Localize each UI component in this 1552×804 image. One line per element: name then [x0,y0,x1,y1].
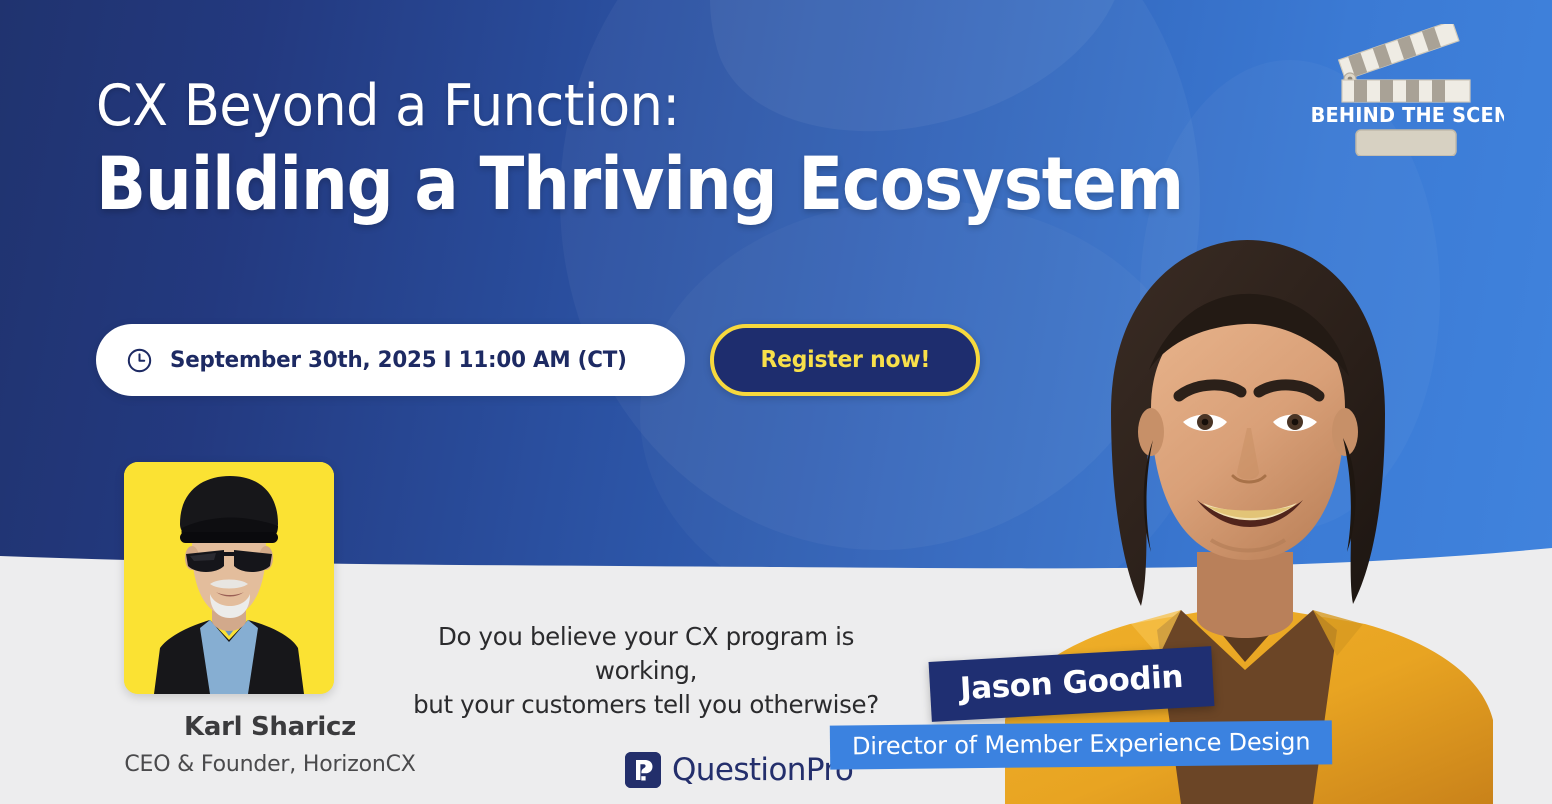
tagline-line-2: but your customers tell you otherwise? [386,688,906,722]
event-date-pill: September 30th, 2025 I 11:00 AM (CT) [96,324,685,396]
register-now-label: Register now! [760,347,930,373]
webinar-banner: CX Beyond a Function: Building a Thrivin… [0,0,1552,804]
questionpro-wordmark: QuestionPro [672,752,853,788]
questionpro-logo-mark [625,752,661,788]
speaker-2-name: Jason Goodin [959,659,1184,707]
event-date-text: September 30th, 2025 I 11:00 AM (CT) [170,347,627,373]
speaker-1-name: Karl Sharicz [110,712,430,742]
page-title: CX Beyond a Function: Building a Thrivin… [96,78,1304,224]
karl-sharicz-headshot [124,462,334,694]
event-actions: September 30th, 2025 I 11:00 AM (CT) Reg… [96,324,980,396]
tagline-line-1: Do you believe your CX program is workin… [386,620,906,688]
series-badge-label: CX BEHIND THE SCENES [1308,102,1504,127]
speaker-2-role: Director of Member Experience Design [852,728,1311,761]
questionpro-logo: QuestionPro [625,752,853,788]
title-line-2: Building a Thriving Ecosystem [96,147,1183,224]
speaker-2-role-banner: Director of Member Experience Design [830,720,1333,769]
series-badge: CX BEHIND THE SCENES [1308,24,1504,156]
tagline: Do you believe your CX program is workin… [386,620,906,721]
clock-icon [126,347,153,374]
title-line-1: CX Beyond a Function: [96,78,1207,135]
clapperboard-icon [1339,24,1470,156]
speaker-1-role: CEO & Founder, HorizonCX [110,752,430,777]
register-now-button[interactable]: Register now! [710,324,981,396]
